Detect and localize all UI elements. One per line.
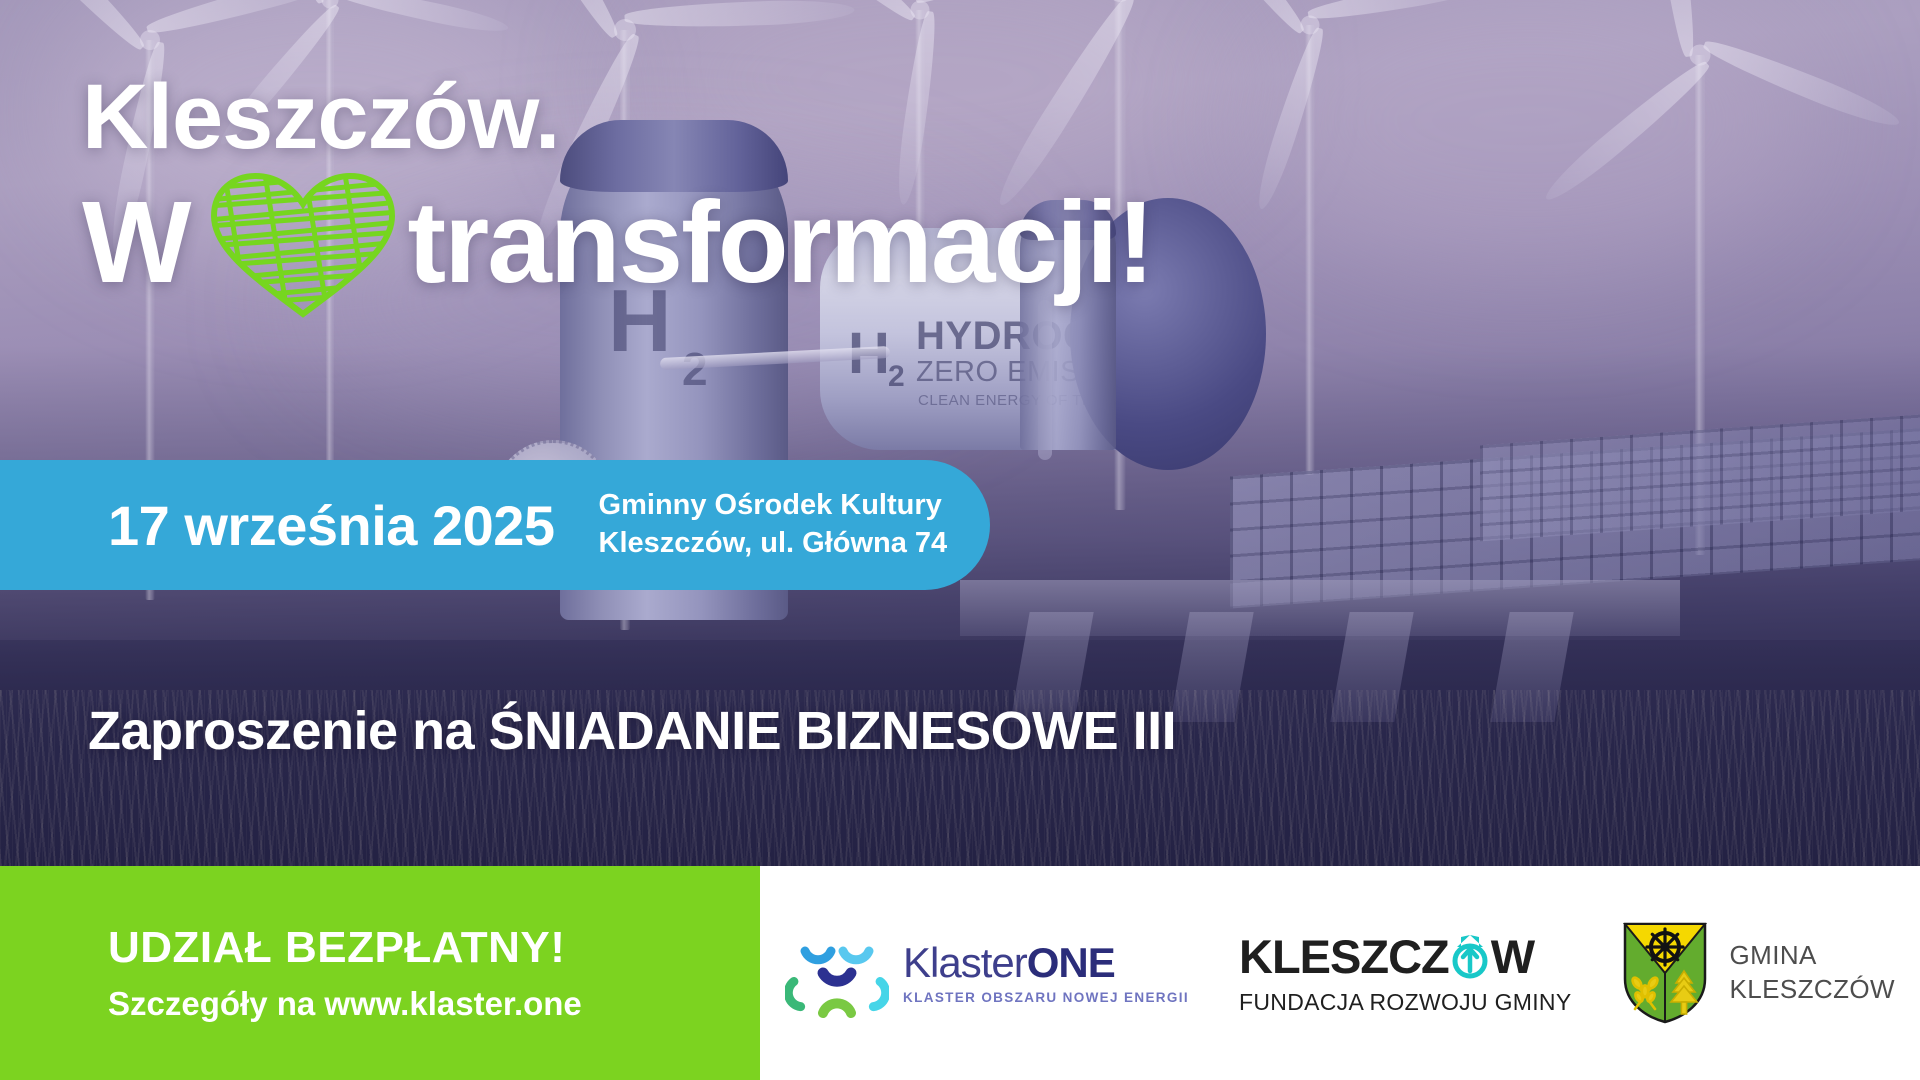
coat-of-arms-icon xyxy=(1622,921,1708,1025)
logo-klasterone: KlasterONE KLASTER OBSZARU NOWEJ ENERGII xyxy=(785,921,1189,1025)
klasterone-name-light: Klaster xyxy=(903,939,1027,986)
event-date: 17 września 2025 xyxy=(108,493,555,558)
logo-fundacja-kleszczow: KLESZCZ W FUNDACJA ROZWOJU GMINY xyxy=(1239,933,1571,1014)
date-venue-banner: 17 września 2025 Gminny Ośrodek Kultury … xyxy=(0,460,990,590)
headline-word-w: W xyxy=(82,186,190,300)
poster-headline: Kleszczów. W xyxy=(82,72,1562,318)
tank-label-h2-sub: 2 xyxy=(682,342,708,396)
headline-word-transformacji: transformacji! xyxy=(408,186,1154,300)
klasterone-wordmark: KlasterONE KLASTER OBSZARU NOWEJ ENERGII xyxy=(903,942,1189,1005)
logo-row: KlasterONE KLASTER OBSZARU NOWEJ ENERGII… xyxy=(760,866,1920,1080)
fundacja-name-part1: KLESZCZ xyxy=(1239,933,1449,980)
gmina-line-1: GMINA xyxy=(1730,939,1895,973)
fundacja-tagline: FUNDACJA ROZWOJU GMINY xyxy=(1239,991,1571,1014)
klasterone-tagline: KLASTER OBSZARU NOWEJ ENERGII xyxy=(903,991,1189,1005)
klasterone-name-bold: ONE xyxy=(1027,939,1115,986)
fundacja-wordmark: KLESZCZ W xyxy=(1239,933,1571,980)
gmina-line-2: KLESZCZÓW xyxy=(1730,973,1895,1007)
free-participation-headline: UDZIAŁ BEZPŁATNY! xyxy=(108,923,760,973)
details-website[interactable]: Szczegóły na www.klaster.one xyxy=(108,985,760,1023)
venue-line-2: Kleszczów, ul. Główna 74 xyxy=(599,525,948,563)
headline-line-2: W xyxy=(82,168,1562,318)
event-poster: H 2 H 2 HYDROGEN ZERO EMISSION CLEAN ENE… xyxy=(0,0,1920,1080)
logo-gmina-kleszczow: GMINA KLESZCZÓW xyxy=(1622,921,1895,1025)
tank-label-h2-sub: 2 xyxy=(888,360,905,394)
headline-line-1: Kleszczów. xyxy=(82,72,1562,162)
venue-line-1: Gminny Ośrodek Kultury xyxy=(599,487,948,525)
free-participation-block: UDZIAŁ BEZPŁATNY! Szczegóły na www.klast… xyxy=(0,866,760,1080)
klasterone-mark-icon xyxy=(785,921,889,1025)
invitation-title: Zaproszenie na ŚNIADANIE BIZNESOWE III xyxy=(88,700,1176,762)
teal-arrow-icon xyxy=(1450,933,1490,979)
green-scribbled-heart-icon xyxy=(204,168,402,318)
poster-footer: UDZIAŁ BEZPŁATNY! Szczegóły na www.klast… xyxy=(0,866,1920,1080)
gmina-wordmark: GMINA KLESZCZÓW xyxy=(1730,939,1895,1007)
fundacja-name-part2: W xyxy=(1491,933,1534,980)
event-venue: Gminny Ośrodek Kultury Kleszczów, ul. Gł… xyxy=(599,487,948,562)
